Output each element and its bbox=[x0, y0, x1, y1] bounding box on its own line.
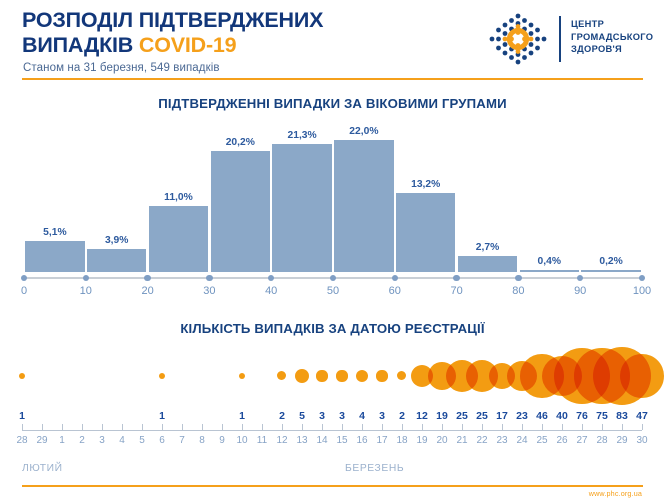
bar-group: 5,1% bbox=[25, 112, 84, 272]
bubble-day-30 bbox=[620, 354, 664, 398]
bubble-axis-tick-label: 8 bbox=[199, 435, 205, 446]
bubble-value-label: 5 bbox=[299, 410, 305, 422]
bubble-value-label: 1 bbox=[239, 410, 245, 422]
logo-text: ЦЕНТР ГРОМАДСЬКОГО ЗДОРОВ'Я bbox=[571, 18, 653, 56]
bubble-axis-tick bbox=[82, 424, 83, 430]
bar-50-60 bbox=[334, 140, 393, 272]
bubble-value-label: 25 bbox=[456, 410, 468, 422]
bubble-axis-tick-label: 18 bbox=[396, 435, 407, 446]
bubble-axis-tick bbox=[482, 424, 483, 430]
bubble-axis-tick-label: 17 bbox=[376, 435, 387, 446]
header-divider bbox=[22, 78, 643, 80]
bar-group: 2,7% bbox=[458, 112, 517, 272]
bubble-axis-tick-label: 21 bbox=[456, 435, 467, 446]
bubble-axis-tick-label: 30 bbox=[636, 435, 647, 446]
bubble-day-18 bbox=[397, 371, 406, 380]
bar-40-50 bbox=[272, 144, 331, 272]
bubble-axis-tick bbox=[122, 424, 123, 430]
logo-line-3: ЗДОРОВ'Я bbox=[571, 43, 653, 56]
bar-0-10 bbox=[25, 241, 84, 272]
bubble-axis-line bbox=[22, 430, 642, 431]
bubble-axis-tick bbox=[42, 424, 43, 430]
bubble-axis-tick bbox=[502, 424, 503, 430]
bubble-axis-tick bbox=[62, 424, 63, 430]
bar-value-label: 22,0% bbox=[334, 126, 393, 137]
bar-70-80 bbox=[458, 256, 517, 272]
month-label-february: ЛЮТИЙ bbox=[22, 463, 63, 474]
bar-plot-area: 5,1%3,9%11,0%20,2%21,3%22,0%13,2%2,7%0,4… bbox=[0, 112, 665, 272]
bubble-value-label: 17 bbox=[496, 410, 508, 422]
bubble-axis-tick-label: 19 bbox=[416, 435, 427, 446]
bar-group: 11,0% bbox=[149, 112, 208, 272]
bubble-axis-tick-label: 16 bbox=[356, 435, 367, 446]
bar-axis-tick bbox=[268, 275, 275, 282]
bar-value-label: 0,4% bbox=[520, 256, 579, 267]
bubble-axis-tick-label: 25 bbox=[536, 435, 547, 446]
bar-60-70 bbox=[396, 193, 455, 272]
bubble-axis-tick-label: 28 bbox=[596, 435, 607, 446]
bubble-value-label: 47 bbox=[636, 410, 648, 422]
bubble-axis-tick-label: 3 bbox=[99, 435, 105, 446]
page-subtitle: Станом на 31 березня, 549 випадків bbox=[23, 62, 220, 74]
bubble-axis-tick-label: 27 bbox=[576, 435, 587, 446]
bar-90-100 bbox=[581, 270, 640, 272]
bubble-axis-tick bbox=[202, 424, 203, 430]
bubble-value-label: 3 bbox=[339, 410, 345, 422]
header: РОЗПОДІЛ ПІДТВЕРДЖЕНИХ ВИПАДКІВ COVID-19… bbox=[0, 0, 665, 80]
bar-10-20 bbox=[87, 249, 146, 272]
bubble-axis-tick-label: 13 bbox=[296, 435, 307, 446]
bubble-axis-tick bbox=[382, 424, 383, 430]
bar-value-label: 3,9% bbox=[87, 235, 146, 246]
logo-line-2: ГРОМАДСЬКОГО bbox=[571, 31, 653, 44]
month-label-march: БЕРЕЗЕНЬ bbox=[345, 463, 404, 474]
page-title-line-2-prefix: ВИПАДКІВ bbox=[22, 33, 139, 57]
bar-value-label: 0,2% bbox=[581, 256, 640, 267]
bubble-axis-tick-label: 11 bbox=[257, 435, 267, 446]
bubble-value-label: 75 bbox=[596, 410, 608, 422]
bubble-day-14 bbox=[316, 370, 327, 381]
bubble-value-label: 76 bbox=[576, 410, 588, 422]
bar-group: 21,3% bbox=[272, 112, 331, 272]
bubble-day-12 bbox=[277, 371, 286, 380]
bubble-value-label: 1 bbox=[19, 410, 25, 422]
bubble-axis-tick-label: 12 bbox=[276, 435, 287, 446]
title-block: РОЗПОДІЛ ПІДТВЕРДЖЕНИХ ВИПАДКІВ COVID-19 bbox=[22, 8, 462, 58]
bubble-value-label: 23 bbox=[516, 410, 528, 422]
bubble-day-28 bbox=[19, 373, 25, 379]
bar-axis-tick bbox=[144, 275, 151, 282]
bubble-axis-tick-label: 15 bbox=[336, 435, 347, 446]
bubble-axis-tick bbox=[182, 424, 183, 430]
bar-axis-tick-label: 70 bbox=[450, 285, 462, 297]
logo-dot-pattern-icon bbox=[487, 12, 549, 66]
bubble-day-13 bbox=[295, 369, 309, 383]
bubble-axis-tick bbox=[262, 424, 263, 430]
bubble-axis-tick bbox=[142, 424, 143, 430]
bubble-plot-area bbox=[0, 340, 665, 410]
bar-axis-tick bbox=[206, 275, 213, 282]
bar-axis-tick bbox=[21, 275, 28, 282]
bubble-chart-title: КІЛЬКІСТЬ ВИПАДКІВ ЗА ДАТОЮ РЕЄСТРАЦІЇ bbox=[0, 321, 665, 336]
bar-axis-tick bbox=[330, 275, 337, 282]
bar-axis-tick-label: 20 bbox=[141, 285, 153, 297]
bar-axis-tick bbox=[392, 275, 399, 282]
bar-value-label: 20,2% bbox=[211, 137, 270, 148]
bubble-axis-tick-label: 20 bbox=[436, 435, 447, 446]
bubble-axis-tick bbox=[462, 424, 463, 430]
bubble-day-16 bbox=[356, 370, 369, 383]
bubble-axis-tick-label: 26 bbox=[556, 435, 567, 446]
bar-chart-title: ПІДТВЕРДЖЕННІ ВИПАДКИ ЗА ВІКОВИМИ ГРУПАМ… bbox=[0, 96, 665, 111]
bubble-axis-tick-label: 7 bbox=[179, 435, 185, 446]
bubble-day-10 bbox=[239, 373, 245, 379]
logo-divider bbox=[559, 16, 561, 62]
bar-axis-tick bbox=[515, 275, 522, 282]
page-title-line-1: РОЗПОДІЛ ПІДТВЕРДЖЕНИХ bbox=[22, 8, 462, 33]
bubble-value-label: 2 bbox=[279, 410, 285, 422]
bubble-axis-tick bbox=[642, 424, 643, 430]
bubble-axis-tick bbox=[222, 424, 223, 430]
bubble-axis-tick-label: 29 bbox=[616, 435, 627, 446]
bar-value-label: 2,7% bbox=[458, 242, 517, 253]
bubble-axis-tick bbox=[302, 424, 303, 430]
bar-group: 0,2% bbox=[581, 112, 640, 272]
bubble-axis-tick-label: 24 bbox=[516, 435, 527, 446]
bubble-axis-tick bbox=[342, 424, 343, 430]
bar-group: 20,2% bbox=[211, 112, 270, 272]
bubble-axis-tick bbox=[562, 424, 563, 430]
bubble-value-label: 2 bbox=[399, 410, 405, 422]
bubble-axis-tick bbox=[102, 424, 103, 430]
age-group-bar-chart: 5,1%3,9%11,0%20,2%21,3%22,0%13,2%2,7%0,4… bbox=[0, 112, 665, 297]
bubble-axis-tick-label: 9 bbox=[219, 435, 225, 446]
bubble-axis-tick bbox=[22, 424, 23, 430]
bubble-value-label: 25 bbox=[476, 410, 488, 422]
bubble-axis-tick-label: 23 bbox=[496, 435, 507, 446]
bubble-axis-tick bbox=[322, 424, 323, 430]
bar-axis-tick-label: 90 bbox=[574, 285, 586, 297]
bubble-axis-tick-label: 29 bbox=[36, 435, 47, 446]
bar-group: 22,0% bbox=[334, 112, 393, 272]
bubble-value-label: 1 bbox=[159, 410, 165, 422]
bubble-value-label: 19 bbox=[436, 410, 448, 422]
bubble-axis-tick bbox=[582, 424, 583, 430]
bubble-value-label: 3 bbox=[379, 410, 385, 422]
bar-group: 13,2% bbox=[396, 112, 455, 272]
bubble-axis-tick bbox=[442, 424, 443, 430]
page-title-line-2: ВИПАДКІВ COVID-19 bbox=[22, 33, 462, 58]
bar-axis-tick-label: 80 bbox=[512, 285, 524, 297]
bubble-day-6 bbox=[159, 373, 165, 379]
bubble-day-17 bbox=[376, 370, 387, 381]
bar-group: 3,9% bbox=[87, 112, 146, 272]
bubble-axis-tick-label: 5 bbox=[139, 435, 145, 446]
footer-url: www.phc.org.ua bbox=[589, 489, 642, 498]
bubble-axis-tick-label: 14 bbox=[316, 435, 327, 446]
bar-axis-tick-label: 100 bbox=[633, 285, 651, 297]
bar-30-40 bbox=[211, 151, 270, 272]
bubble-axis-tick-label: 28 bbox=[16, 435, 27, 446]
bubble-axis-tick bbox=[622, 424, 623, 430]
bar-80-90 bbox=[520, 270, 579, 272]
bar-axis-tick bbox=[639, 275, 646, 282]
bubble-value-label: 40 bbox=[556, 410, 568, 422]
bubble-day-15 bbox=[336, 370, 347, 381]
bar-axis-tick-label: 30 bbox=[203, 285, 215, 297]
bubble-axis-tick-label: 1 bbox=[59, 435, 65, 446]
bubble-axis-tick bbox=[422, 424, 423, 430]
cases-by-date-bubble-chart: 1282912345167891101121251331431541631721… bbox=[0, 340, 665, 460]
bubble-axis-tick bbox=[602, 424, 603, 430]
bar-group: 0,4% bbox=[520, 112, 579, 272]
logo-line-1: ЦЕНТР bbox=[571, 18, 653, 31]
bubble-axis-tick-label: 4 bbox=[119, 435, 125, 446]
bar-axis-tick-label: 10 bbox=[80, 285, 92, 297]
bubble-axis-tick bbox=[402, 424, 403, 430]
bar-axis-tick-label: 60 bbox=[389, 285, 401, 297]
bubble-axis-tick bbox=[242, 424, 243, 430]
bubble-axis-tick-label: 6 bbox=[159, 435, 165, 446]
bar-axis-tick-label: 0 bbox=[21, 285, 27, 297]
bubble-axis-tick bbox=[162, 424, 163, 430]
bubble-axis-tick-label: 10 bbox=[236, 435, 247, 446]
bubble-axis-tick-label: 2 bbox=[79, 435, 85, 446]
bubble-axis-tick bbox=[282, 424, 283, 430]
bar-value-label: 21,3% bbox=[272, 130, 331, 141]
footer-divider bbox=[22, 485, 643, 487]
bubble-value-label: 3 bbox=[319, 410, 325, 422]
bubble-axis-tick bbox=[542, 424, 543, 430]
organization-logo: ЦЕНТР ГРОМАДСЬКОГО ЗДОРОВ'Я bbox=[487, 10, 657, 68]
bar-value-label: 5,1% bbox=[25, 227, 84, 238]
bar-axis-tick bbox=[453, 275, 460, 282]
bubble-axis-tick-label: 22 bbox=[476, 435, 487, 446]
bar-axis-tick-label: 50 bbox=[327, 285, 339, 297]
bubble-value-label: 12 bbox=[416, 410, 428, 422]
page-title-covid: COVID-19 bbox=[139, 33, 237, 57]
bar-x-axis: 0102030405060708090100 bbox=[0, 273, 665, 283]
bubble-value-label: 46 bbox=[536, 410, 548, 422]
bubble-value-label: 4 bbox=[359, 410, 365, 422]
bubble-axis-tick bbox=[522, 424, 523, 430]
bubble-value-label: 83 bbox=[616, 410, 628, 422]
bar-value-label: 11,0% bbox=[149, 192, 208, 203]
bar-axis-tick-label: 40 bbox=[265, 285, 277, 297]
bar-axis-tick bbox=[577, 275, 584, 282]
bar-axis-tick bbox=[83, 275, 90, 282]
bar-20-30 bbox=[149, 206, 208, 272]
bar-value-label: 13,2% bbox=[396, 179, 455, 190]
bubble-axis-tick bbox=[362, 424, 363, 430]
